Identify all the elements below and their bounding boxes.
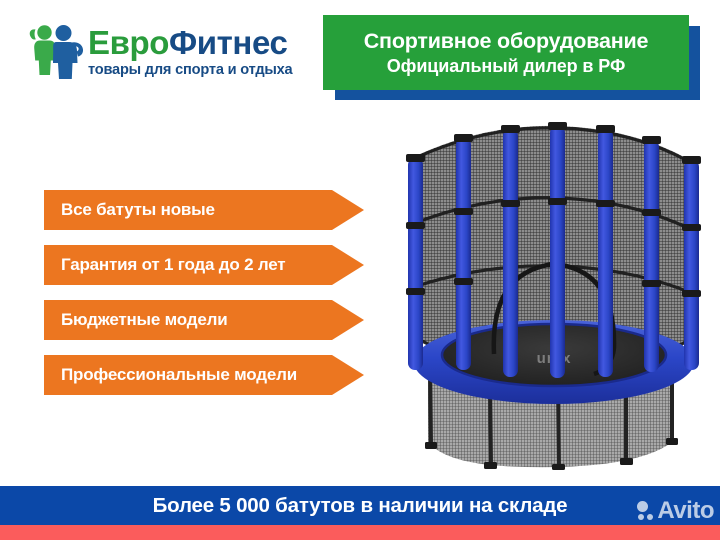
feature-arrow-3: Бюджетные модели (44, 300, 364, 340)
footer-banner: Более 5 000 батутов в наличии на складе (0, 486, 720, 525)
feature-label-4: Профессиональные модели (44, 365, 297, 385)
brand-logo: ЕвроФитнес товары для спорта и отдыха (22, 20, 322, 88)
product-image-trampoline: unix (398, 112, 718, 470)
feature-label-1: Все батуты новые (44, 200, 215, 220)
avito-dots-icon (637, 501, 654, 521)
footer-banner-text: Более 5 000 батутов в наличии на складе (153, 494, 568, 518)
feature-list: Все батуты новые Гарантия от 1 года до 2… (44, 190, 384, 410)
feature-label-3: Бюджетные модели (44, 310, 227, 330)
header-banner-line-1: Спортивное оборудование (364, 28, 649, 54)
feature-arrow-4: Профессиональные модели (44, 355, 364, 395)
brand-tagline: товары для спорта и отдыха (88, 62, 334, 78)
avito-watermark: Avito (637, 499, 714, 523)
brand-wordmark: ЕвроФитнес (88, 20, 328, 66)
promo-image-canvas: ЕвроФитнес товары для спорта и отдыха Сп… (0, 0, 720, 540)
feature-arrow-2: Гарантия от 1 года до 2 лет (44, 245, 364, 285)
avito-wordmark: Avito (657, 499, 714, 523)
fitness-figures-icon (22, 22, 88, 80)
feature-label-2: Гарантия от 1 года до 2 лет (44, 255, 285, 275)
header-banner-line-2: Официальный дилер в РФ (387, 54, 625, 78)
header-banner: Спортивное оборудование Официальный диле… (323, 15, 689, 90)
brand-name-part-1: Евро (88, 24, 169, 61)
feature-arrow-1: Все батуты новые (44, 190, 364, 230)
footer-accent-strip (0, 525, 720, 540)
brand-name-part-2: Фитнес (169, 24, 287, 61)
